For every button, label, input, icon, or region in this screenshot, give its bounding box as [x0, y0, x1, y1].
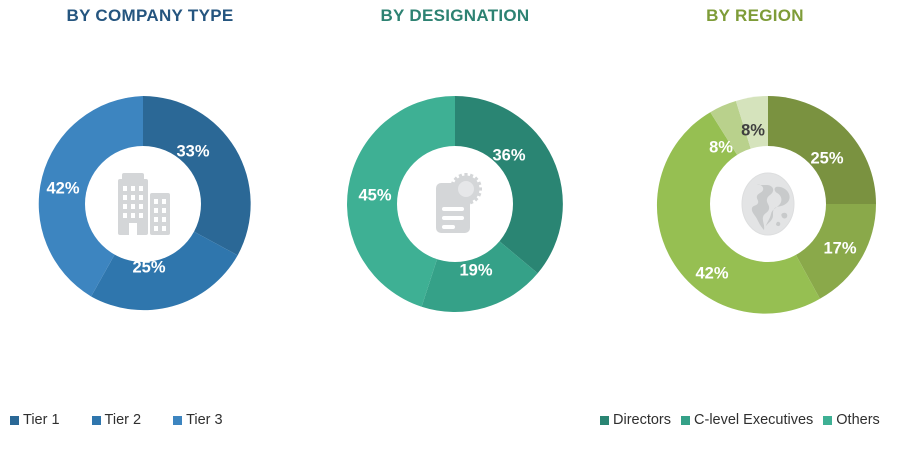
page-title-region: BY REGION: [610, 6, 900, 26]
slice-value-tier-1: 33%: [176, 142, 209, 160]
legend-item-tier-2[interactable]: Tier 2: [92, 412, 142, 428]
slice-value-others: 45%: [358, 186, 391, 204]
legend-item-tier-1[interactable]: Tier 1: [10, 412, 60, 428]
slice-value-tier-3: 42%: [46, 179, 79, 197]
donut-chart-region: 25% 17% 42% 8% 8%: [650, 86, 886, 322]
legend-label-tier-1: Tier 1: [23, 412, 60, 428]
slice-value-europe: 17%: [823, 239, 856, 257]
panel-by-region: BY REGION 25% 17% 42% 8% 8%: [610, 0, 900, 475]
legend-item-tier-3[interactable]: Tier 3: [173, 412, 223, 428]
donut-hole: [710, 146, 826, 262]
legend-label-tier-3: Tier 3: [186, 412, 223, 428]
panel-by-designation: BY DESIGNATION 36% 19% 45%: [300, 0, 610, 475]
slice-value-asia-pacific: 42%: [695, 264, 728, 282]
donut-svg-region: 25% 17% 42% 8% 8%: [650, 86, 886, 322]
page-title-designation: BY DESIGNATION: [300, 6, 610, 26]
slice-value-c-level-executives: 19%: [459, 261, 492, 279]
donut-chart-company-type: 33% 25% 42%: [25, 86, 261, 322]
slice-value-tier-2: 25%: [132, 258, 165, 276]
donut-svg-company-type: 33% 25% 42%: [25, 86, 261, 322]
slice-value-middle-east-africa: 8%: [741, 121, 765, 139]
donut-svg-designation: 36% 19% 45%: [337, 86, 573, 322]
slice-value-directors: 36%: [492, 146, 525, 164]
legend-swatch-directors: [600, 416, 609, 425]
page-title-company-type: BY COMPANY TYPE: [0, 6, 300, 26]
slice-value-north-america: 25%: [810, 149, 843, 167]
legend-swatch-tier-1: [10, 416, 19, 425]
donut-hole: [85, 146, 201, 262]
panel-by-company-type: BY COMPANY TYPE 33% 25% 42%: [0, 0, 300, 475]
legend-company-type: Tier 1 Tier 2 Tier 3: [10, 412, 295, 428]
donut-chart-designation: 36% 19% 45%: [337, 86, 573, 322]
slice-value-south-america: 8%: [709, 138, 733, 156]
legend-label-tier-2: Tier 2: [105, 412, 142, 428]
legend-swatch-tier-3: [173, 416, 182, 425]
legend-swatch-tier-2: [92, 416, 101, 425]
